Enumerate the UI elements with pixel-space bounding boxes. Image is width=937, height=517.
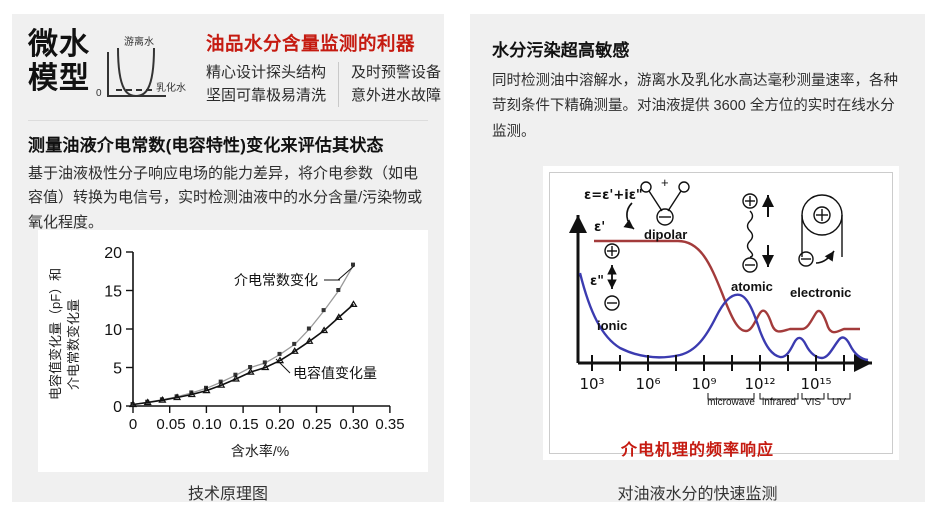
- chart-x-ticklabels: 0 0.05 0.10 0.15 0.20 0.25 0.30 0.35: [129, 416, 405, 433]
- spectrum-label-ionic: ionic: [597, 318, 627, 333]
- chart-ytick-20: 20: [104, 245, 122, 262]
- chart-xtick-005: 0.05: [156, 416, 185, 433]
- brand-title-line2: 模型: [28, 62, 90, 96]
- spectrum-band-infrared: infrared: [762, 397, 796, 408]
- header-feature-columns: 精心设计探头结构 坚固可靠极易清洗 及时预警设备 意外进水故障: [206, 61, 441, 108]
- chart-x-ticks: [133, 406, 390, 413]
- spectrum-eps-real-label: ε': [594, 220, 605, 235]
- diagram-u-curve: [118, 48, 154, 96]
- chart-annotation-capacitance: 电容值变化量: [293, 365, 377, 381]
- feature-2-line2: 意外进水故障: [351, 84, 441, 107]
- right-section-title: 水分污染超高敏感: [492, 36, 903, 61]
- header-feature-col-1: 精心设计探头结构 坚固可靠极易清洗: [206, 61, 338, 108]
- spectrum-red-caption: 介电机理的频率响应: [470, 436, 925, 460]
- chart-ytick-0: 0: [113, 399, 122, 416]
- feature-1-line2: 坚固可靠极易清洗: [206, 84, 326, 107]
- brand-title: 微水 模型: [28, 28, 90, 95]
- chart-annotation-dielectric: 介电常数变化: [234, 272, 318, 288]
- chart-series-capacitance-markers: [130, 301, 357, 406]
- dielectric-relaxation-spectrum: ε=ε'+iε" ε' ε" ionic: [550, 173, 894, 417]
- chart-xtick-030: 0.30: [339, 416, 368, 433]
- page-root: 微水 模型 0 游离水 乳化水 油品水分含量监测的利器: [0, 0, 937, 517]
- ionic-schematic-icon: [605, 244, 619, 310]
- left-panel-header: 微水 模型 0 游离水 乳化水 油品水分含量监测的利器: [12, 14, 444, 108]
- brand-title-line1: 微水: [28, 28, 90, 62]
- diagram-origin-label: 0: [96, 88, 102, 99]
- chart-xtick-010: 0.10: [192, 416, 221, 433]
- atomic-schematic-icon: [743, 194, 768, 272]
- spectrum-xtick-4: 10¹⁵: [800, 375, 831, 393]
- left-panel: 微水 模型 0 游离水 乳化水 油品水分含量监测的利器: [12, 14, 444, 502]
- chart-xtick-035: 0.35: [375, 416, 404, 433]
- chart-ylabel-line1: 电容值变化量（pF）和: [48, 268, 63, 400]
- header-red-title: 油品水分含量监测的利器: [206, 30, 441, 56]
- feature-2-line1: 及时预警设备: [351, 61, 441, 84]
- right-panel-header: 水分污染超高敏感 同时检测油中溶解水，游离水及乳化水高达毫秒测量速率，各种苛刻条…: [470, 14, 925, 145]
- spectrum-xtick-0: 10³: [579, 375, 604, 393]
- chart-ytick-15: 15: [104, 284, 122, 301]
- spectrum-x-ticklabels: 10³ 10⁶ 10⁹ 10¹² 10¹⁵: [579, 375, 831, 393]
- right-panel-caption: 对油液水分的快速监测: [470, 480, 925, 504]
- feature-1-line1: 精心设计探头结构: [206, 61, 326, 84]
- spectrum-label-atomic: atomic: [731, 279, 773, 294]
- spectrum-band-microwave: microwave: [707, 397, 755, 408]
- dielectric-spectrum-box: ε=ε'+iε" ε' ε" ionic: [543, 166, 899, 460]
- capacitance-dielectric-chart: 电容值变化量（pF）和 介电常数变化量 0 5 10 15: [38, 230, 428, 472]
- header-text-block: 油品水分含量监测的利器 精心设计探头结构 坚固可靠极易清洗 及时预警设备 意外进…: [206, 28, 441, 108]
- spectrum-label-dipolar: dipolar: [644, 227, 687, 242]
- left-panel-body: 测量油液介电常数(电容特性)变化来评估其状态 基于油液极性分子响应电场的能力差异…: [12, 121, 444, 235]
- left-section-title: 测量油液介电常数(电容特性)变化来评估其状态: [28, 131, 428, 156]
- chart-ytick-10: 10: [104, 322, 122, 339]
- chart-xtick-015: 0.15: [229, 416, 258, 433]
- spectrum-xtick-1: 10⁶: [635, 375, 660, 393]
- header-feature-col-2: 及时预警设备 意外进水故障: [351, 61, 441, 108]
- spectrum-inner-frame: ε=ε'+iε" ε' ε" ionic: [549, 172, 893, 454]
- chart-series-capacitance-line: [133, 304, 354, 404]
- diagram-top-label: 游离水: [124, 35, 154, 48]
- chart-xtick-025: 0.25: [302, 416, 331, 433]
- electronic-schematic-icon: [799, 195, 842, 266]
- spectrum-eps-imag-label: ε": [590, 274, 604, 289]
- chart-xlabel: 含水率/%: [231, 443, 289, 459]
- spectrum-band-labels: microwave infrared VIS UV: [707, 397, 846, 408]
- spectrum-label-electronic: electronic: [790, 285, 851, 300]
- water-curve-diagram-icon: 0 游离水 乳化水: [94, 34, 198, 108]
- right-section-text: 同时检测油中溶解水，游离水及乳化水高达毫秒测量速率，各种苛刻条件下精确测量。对油…: [492, 69, 903, 145]
- spectrum-xtick-2: 10⁹: [691, 375, 716, 393]
- spectrum-band-vis: VIS: [805, 397, 821, 408]
- chart-xtick-020: 0.20: [265, 416, 294, 433]
- diagram-bottom-label: 乳化水: [156, 81, 186, 94]
- left-panel-caption: 技术原理图: [12, 480, 444, 504]
- chart-ylabel-line2: 介电常数变化量: [66, 299, 81, 390]
- chart-y-ticks: [126, 252, 133, 406]
- spectrum-band-uv: UV: [832, 397, 846, 408]
- chart-y-ticklabels: 0 5 10 15 20: [104, 245, 122, 416]
- spectrum-formula: ε=ε'+iε": [584, 188, 643, 203]
- chart-xtick-0: 0: [129, 416, 137, 433]
- svg-text:+: +: [661, 175, 669, 190]
- principle-chart-box: 电容值变化量（pF）和 介电常数变化量 0 5 10 15: [38, 230, 428, 472]
- chart-ytick-5: 5: [113, 361, 122, 378]
- chart-annotation-capacitance-leader: [276, 359, 290, 373]
- header-column-divider: [338, 62, 339, 107]
- left-section-text: 基于油液极性分子响应电场的能力差异，将介电参数（如电容值）转换为电信号，实时检测…: [28, 162, 428, 235]
- right-panel: 水分污染超高敏感 同时检测油中溶解水，游离水及乳化水高达毫秒测量速率，各种苛刻条…: [470, 14, 925, 502]
- spectrum-xtick-3: 10¹²: [744, 375, 775, 393]
